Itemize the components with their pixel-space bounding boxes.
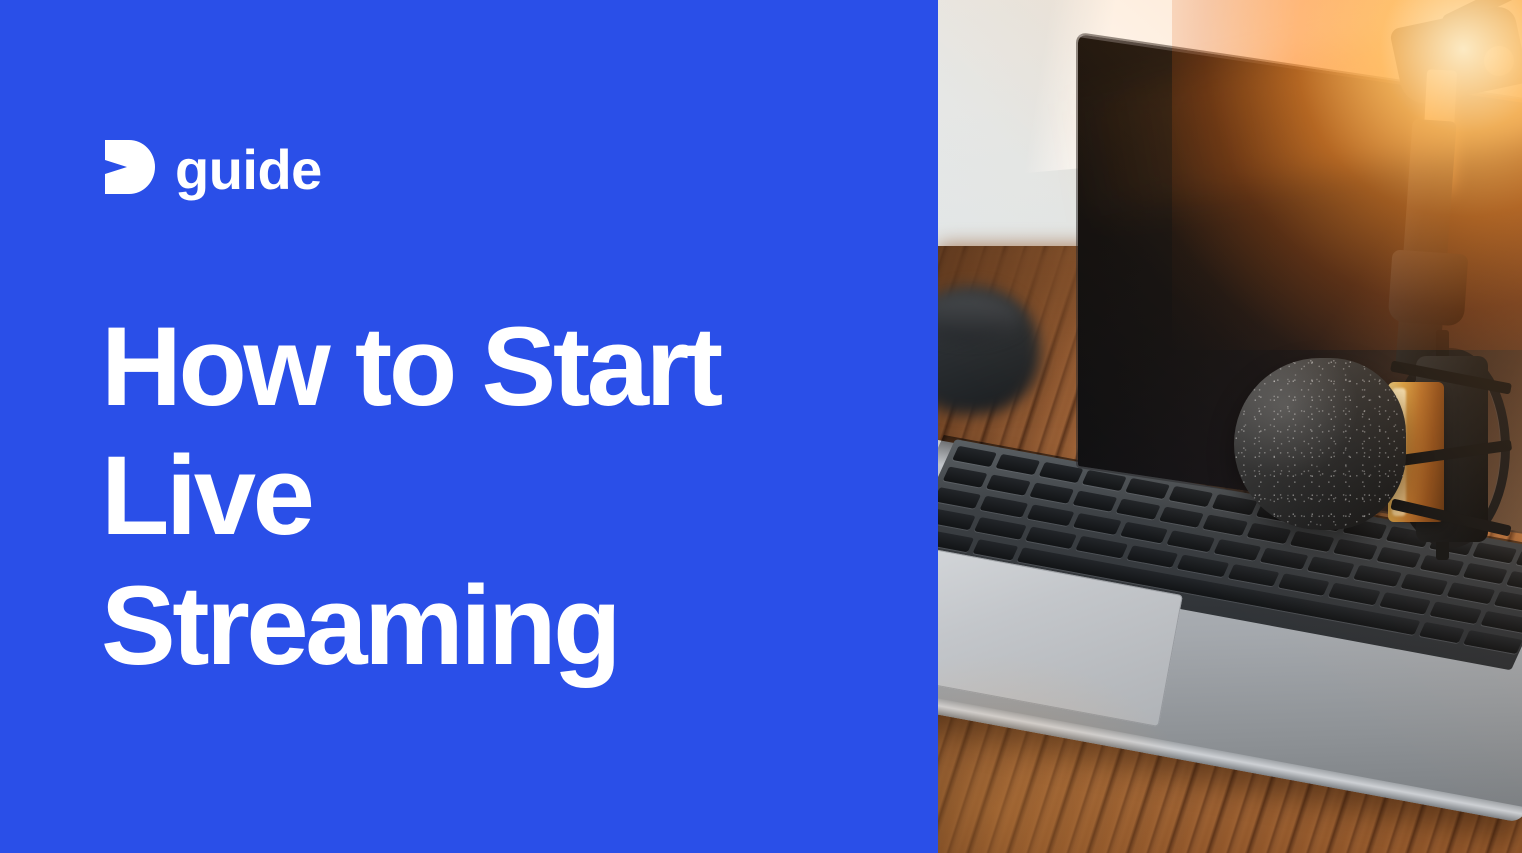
brand-wordmark: guide: [175, 142, 322, 198]
microphone-icon: [1234, 358, 1406, 530]
cover-banner: guide How to Start Live Streaming: [0, 0, 1522, 853]
mic-mount-clamp: [1388, 249, 1469, 326]
page-title: How to Start Live Streaming: [101, 302, 921, 690]
headline-line-2: Live: [101, 431, 921, 560]
brand-logo[interactable]: guide: [103, 136, 322, 198]
blue-content-panel: guide How to Start Live Streaming: [0, 0, 938, 853]
guide-chevron-mark-icon: [103, 138, 157, 196]
headline-line-1: How to Start: [101, 302, 921, 431]
hero-photo: [938, 0, 1522, 853]
mic-foam-texture: [1234, 358, 1406, 530]
headline-line-3: Streaming: [101, 561, 921, 690]
boom-arm-knob: [1484, 46, 1514, 76]
